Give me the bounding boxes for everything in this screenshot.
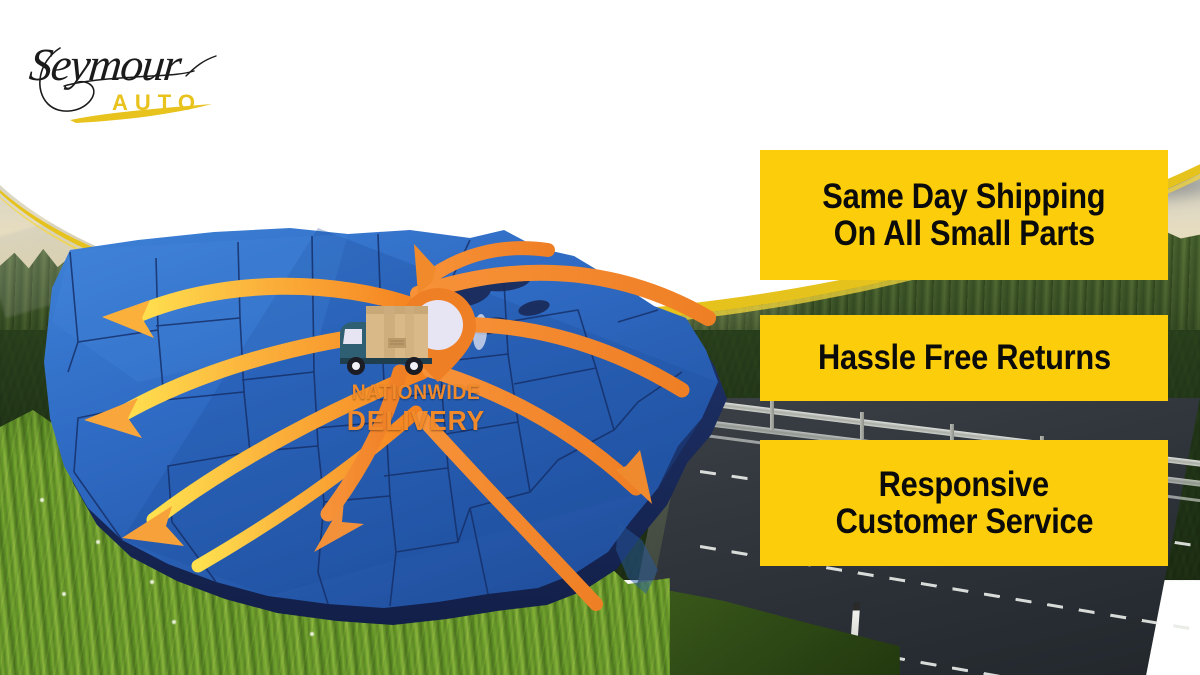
feature-box-same-day-shipping[interactable]: Same Day Shipping On All Small Parts — [760, 150, 1168, 280]
feature-box-hassle-free-returns[interactable]: Hassle Free Returns — [760, 315, 1168, 401]
nationwide-delivery-badge: NATIONWIDE DELIVERY — [326, 282, 506, 452]
feature-line: Same Day Shipping — [822, 178, 1105, 215]
promo-banner: Seymour AUTO — [0, 0, 1200, 675]
feature-line: Customer Service — [835, 503, 1093, 540]
badge-line-delivery: DELIVERY — [331, 407, 500, 435]
feature-box-responsive-customer-service[interactable]: Responsive Customer Service — [760, 440, 1168, 566]
badge-line-nationwide: NATIONWIDE — [333, 382, 499, 403]
feature-line: On All Small Parts — [833, 215, 1094, 252]
delivery-truck-icon — [340, 306, 432, 375]
feature-line: Responsive — [879, 466, 1049, 503]
svg-text:Seymour: Seymour — [27, 39, 185, 90]
brand-logo[interactable]: Seymour AUTO — [26, 24, 236, 124]
guardrail-post — [860, 412, 864, 442]
feature-line: Hassle Free Returns — [818, 339, 1111, 376]
badge-caption: NATIONWIDE DELIVERY — [326, 382, 506, 435]
